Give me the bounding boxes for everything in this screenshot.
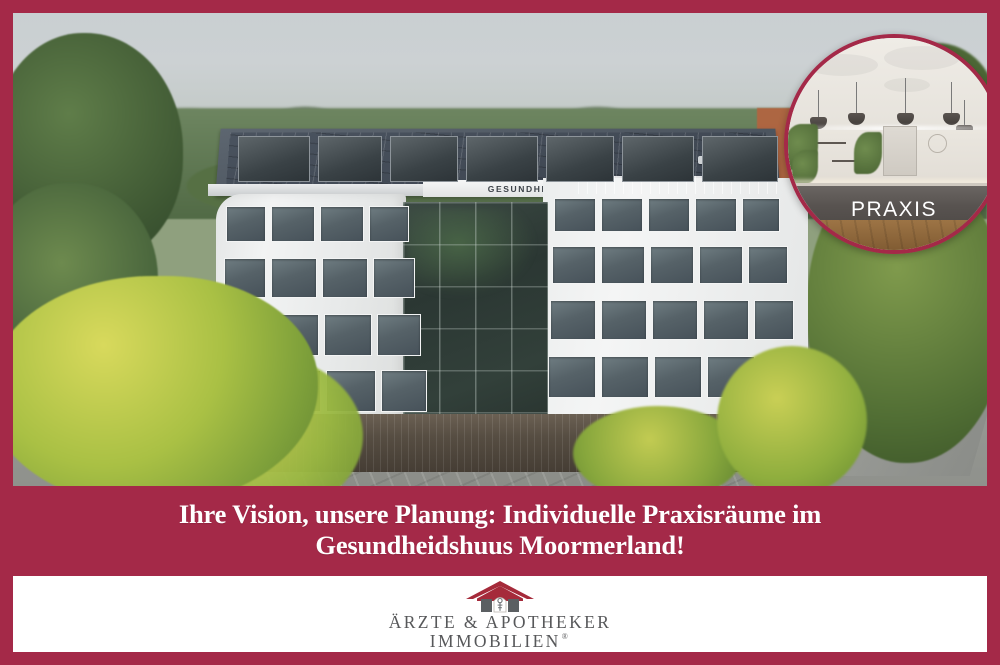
flyer-poster: GESUNDHEIDSHUUS	[0, 0, 1000, 665]
window	[550, 300, 596, 340]
interior-door	[883, 126, 917, 176]
window	[552, 246, 596, 284]
window	[652, 300, 698, 340]
headline-line-1: Ihre Vision, unsere Planung: Individuell…	[179, 499, 821, 530]
footer-logo-bar: ÄRZTE & APOTHEKER IMMOBILIEN®	[13, 576, 987, 652]
window	[271, 258, 317, 298]
logo-line-1: ÄRZTE & APOTHEKER	[389, 613, 612, 632]
hero-photo: GESUNDHEIDSHUUS	[13, 13, 987, 486]
window	[601, 300, 647, 340]
logo-line-2-text: IMMOBILIEN	[430, 632, 561, 651]
window-row	[224, 258, 415, 298]
headline-line-2: Gesundheidshuus Moormerland!	[315, 530, 684, 561]
praxis-scene: PRAXIS	[788, 38, 987, 250]
window	[654, 356, 702, 398]
window	[554, 198, 596, 232]
shopfront-glazing	[546, 136, 614, 182]
pendant-lamp	[856, 82, 857, 114]
window	[601, 356, 649, 398]
window	[320, 206, 364, 242]
house-with-key-icon	[461, 579, 539, 613]
shopfront-glazing	[238, 136, 310, 182]
wall-shelf	[816, 142, 846, 144]
window	[271, 206, 315, 242]
wood-floor	[788, 220, 987, 250]
window	[648, 198, 690, 232]
window-row	[554, 198, 780, 232]
window-row	[552, 246, 788, 284]
window	[377, 314, 421, 356]
shopfront-glazing	[702, 136, 778, 182]
pendant-lamp	[964, 100, 965, 126]
window	[322, 258, 368, 298]
window	[703, 300, 749, 340]
window-row	[226, 206, 409, 242]
window	[695, 198, 737, 232]
plant	[792, 150, 818, 184]
tree-right-lower	[717, 346, 867, 486]
pendant-lamp	[818, 90, 819, 118]
window	[381, 370, 427, 412]
praxis-label: PRAXIS	[788, 198, 987, 222]
window	[650, 246, 694, 284]
praxis-inset-photo: PRAXIS	[784, 34, 987, 254]
window	[601, 198, 643, 232]
ceiling-light-recess	[806, 54, 878, 76]
window	[373, 258, 415, 298]
shopfront-glazing	[622, 136, 694, 182]
ceiling-light-recess	[884, 78, 930, 92]
registered-trademark-symbol: ®	[562, 632, 570, 642]
window	[699, 246, 743, 284]
window	[748, 246, 788, 284]
window	[742, 198, 780, 232]
ceiling-light-recess	[884, 46, 960, 70]
pendant-lamp	[951, 82, 952, 114]
autumn-shrub-yellow	[13, 276, 318, 486]
wall-clock-icon	[928, 134, 947, 153]
window	[369, 206, 409, 242]
shopfront-glazing	[466, 136, 538, 182]
window	[754, 300, 794, 340]
headline-banner: Ihre Vision, unsere Planung: Individuell…	[0, 486, 1000, 574]
window	[601, 246, 645, 284]
company-logo: ÄRZTE & APOTHEKER IMMOBILIEN®	[389, 579, 612, 651]
shopfront-glazing	[390, 136, 458, 182]
window-row	[550, 300, 794, 340]
logo-line-2: IMMOBILIEN®	[430, 632, 570, 651]
window	[548, 356, 596, 398]
shopfront-glazing	[318, 136, 382, 182]
window	[324, 314, 372, 356]
pendant-lamp	[905, 78, 906, 114]
window	[226, 206, 266, 242]
plant	[854, 132, 882, 174]
